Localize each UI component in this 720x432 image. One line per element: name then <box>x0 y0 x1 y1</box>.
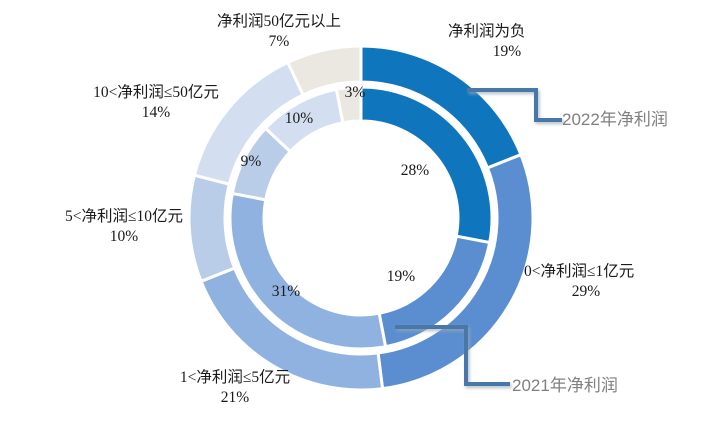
outer-label-1-to-5: 1<净利润≤5亿元 21% <box>145 368 325 408</box>
outer-label-name: 净利润为负 <box>448 23 526 40</box>
inner-label-10-to-50: 10% <box>276 110 322 128</box>
outer-label-10-to-50: 10<净利润≤50亿元 14% <box>66 83 246 123</box>
outer-label-above-50: 净利润50亿元以上 7% <box>186 12 372 52</box>
inner-label-above-50: 3% <box>336 84 374 102</box>
outer-label-5-to-10: 5<净利润≤10亿元 10% <box>42 207 206 247</box>
outer-label-pct: 19% <box>448 42 566 62</box>
legend-2022-net-profit[interactable]: 2022年净利润 <box>562 105 668 130</box>
outer-label-net-profit-negative: 净利润为负 19% <box>448 22 566 62</box>
outer-label-name: 净利润50亿元以上 <box>217 13 341 30</box>
inner-label-5-to-10: 9% <box>230 153 272 171</box>
outer-label-name: 10<净利润≤50亿元 <box>93 84 219 101</box>
inner-label-1-to-5: 31% <box>263 283 309 301</box>
outer-label-pct: 10% <box>42 227 206 247</box>
outer-label-pct: 29% <box>524 282 648 302</box>
outer-label-pct: 7% <box>186 32 372 52</box>
inner-label-0-to-1: 19% <box>378 268 424 286</box>
donut-chart: 净利润为负 19% 0<净利润≤1亿元 29% 1<净利润≤5亿元 21% 5<… <box>0 0 720 432</box>
outer-label-pct: 21% <box>145 388 325 408</box>
outer-label-pct: 14% <box>66 103 246 123</box>
inner-label-net-profit-negative: 28% <box>392 162 438 180</box>
outer-label-name: 0<净利润≤1亿元 <box>524 263 634 280</box>
outer-label-name: 1<净利润≤5亿元 <box>180 369 290 386</box>
outer-label-name: 5<净利润≤10亿元 <box>65 208 183 225</box>
legend-2021-net-profit[interactable]: 2021年净利润 <box>512 371 618 396</box>
outer-label-0-to-1: 0<净利润≤1亿元 29% <box>524 262 648 302</box>
inner-ring-2021 <box>230 87 492 349</box>
